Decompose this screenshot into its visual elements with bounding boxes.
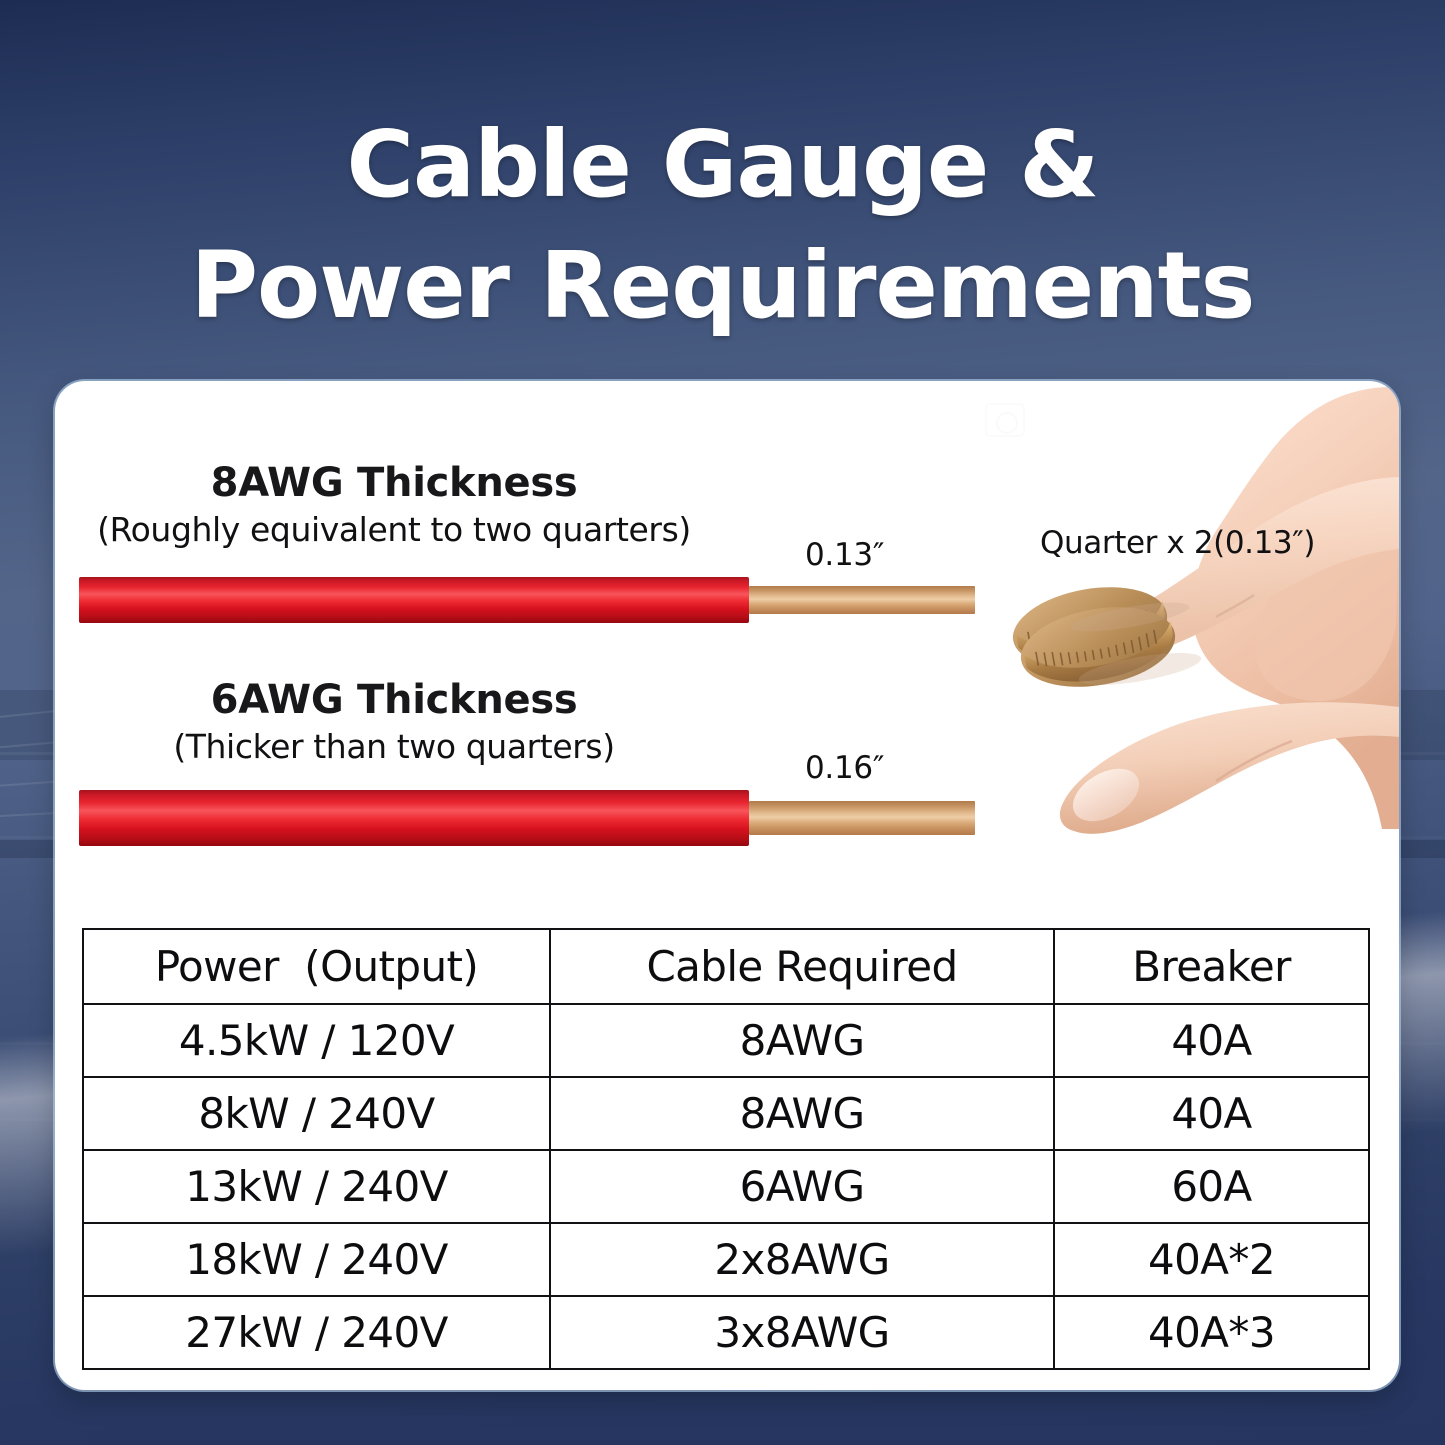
cell-breaker: 40A*2: [1054, 1223, 1369, 1296]
wire-measure-8awg: 0.13″: [805, 537, 884, 573]
gauge-section-6awg: 6AWG Thickness (Thicker than two quarter…: [55, 678, 995, 868]
wire-diagram-8awg: 0.13″: [55, 571, 995, 651]
table-header-breaker: Breaker: [1054, 929, 1369, 1004]
spec-table: Power (Output) Cable Required Breaker 4.…: [82, 928, 1370, 1370]
cell-power: 4.5kW / 120V: [83, 1004, 550, 1077]
cell-cable: 2x8AWG: [550, 1223, 1054, 1296]
infographic-root: Cable Gauge & Power Requirements 8AWG Th…: [0, 0, 1445, 1445]
table-row: 8kW / 240V 8AWG 40A: [83, 1077, 1369, 1150]
table-header-row: Power (Output) Cable Required Breaker: [83, 929, 1369, 1004]
cell-power: 13kW / 240V: [83, 1150, 550, 1223]
wire-insulation-6awg: [79, 790, 749, 846]
cell-cable: 3x8AWG: [550, 1296, 1054, 1369]
wire-conductor-8awg: [749, 586, 975, 614]
gauge-subtitle-6awg: (Thicker than two quarters): [64, 729, 724, 766]
cell-breaker: 40A: [1054, 1077, 1369, 1150]
content-card: 8AWG Thickness (Roughly equivalent to tw…: [55, 381, 1399, 1390]
gauge-title-6awg: 6AWG Thickness: [64, 678, 724, 723]
page-title: Cable Gauge & Power Requirements: [0, 104, 1445, 347]
gauge-heading-8awg: 8AWG Thickness (Roughly equivalent to tw…: [64, 461, 724, 549]
table-row: 18kW / 240V 2x8AWG 40A*2: [83, 1223, 1369, 1296]
table-header-power: Power (Output): [83, 929, 550, 1004]
cell-power: 18kW / 240V: [83, 1223, 550, 1296]
table-header-cable: Cable Required: [550, 929, 1054, 1004]
table-row: 27kW / 240V 3x8AWG 40A*3: [83, 1296, 1369, 1369]
gauge-heading-6awg: 6AWG Thickness (Thicker than two quarter…: [64, 678, 724, 766]
gauge-title-8awg: 8AWG Thickness: [64, 461, 724, 506]
wire-insulation-8awg: [79, 577, 749, 623]
page-title-line-1: Cable Gauge &: [0, 104, 1445, 225]
cell-cable: 8AWG: [550, 1004, 1054, 1077]
cell-breaker: 40A*3: [1054, 1296, 1369, 1369]
cell-breaker: 60A: [1054, 1150, 1369, 1223]
cell-breaker: 40A: [1054, 1004, 1369, 1077]
hand-icon: [980, 381, 1399, 921]
table-row: 13kW / 240V 6AWG 60A: [83, 1150, 1369, 1223]
coin-label: Quarter x 2(0.13″): [1040, 525, 1315, 561]
wire-conductor-6awg: [749, 801, 975, 835]
gauge-subtitle-8awg: (Roughly equivalent to two quarters): [64, 512, 724, 549]
cell-power: 27kW / 240V: [83, 1296, 550, 1369]
gauge-section-8awg: 8AWG Thickness (Roughly equivalent to tw…: [55, 461, 995, 651]
hand-coin-illustration: Quarter x 2(0.13″): [980, 381, 1399, 921]
wire-diagram-6awg: 0.16″: [55, 788, 995, 868]
cell-power: 8kW / 240V: [83, 1077, 550, 1150]
wire-measure-6awg: 0.16″: [805, 750, 884, 786]
table-row: 4.5kW / 120V 8AWG 40A: [83, 1004, 1369, 1077]
cell-cable: 6AWG: [550, 1150, 1054, 1223]
page-title-line-2: Power Requirements: [0, 225, 1445, 346]
cell-cable: 8AWG: [550, 1077, 1054, 1150]
